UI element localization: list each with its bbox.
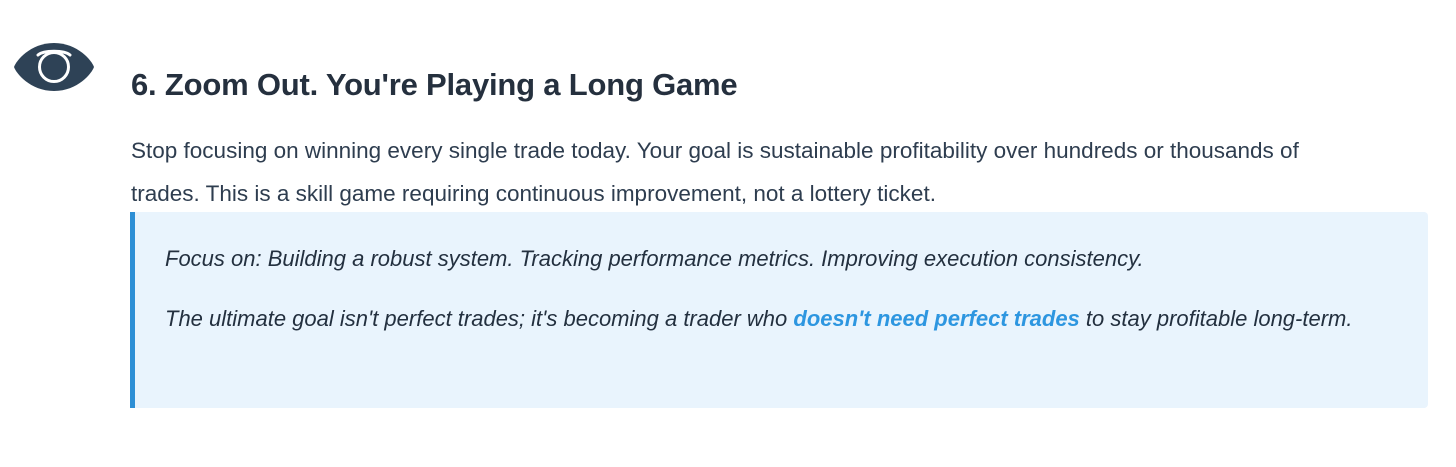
callout-content: Focus on: Building a robust system. Trac… <box>135 212 1428 340</box>
callout-paragraph-one: Focus on: Building a robust system. Trac… <box>165 238 1398 280</box>
callout-text-after: to stay profitable long-term. <box>1080 306 1353 331</box>
eye-icon <box>12 41 96 93</box>
callout-paragraph-two: The ultimate goal isn't perfect trades; … <box>165 298 1398 340</box>
section-body-paragraph: Stop focusing on winning every single tr… <box>131 129 1356 215</box>
callout-emphasis-phrase: doesn't need perfect trades <box>793 306 1079 331</box>
callout-text-before: The ultimate goal isn't perfect trades; … <box>165 306 793 331</box>
article-section: 6. Zoom Out. You're Playing a Long Game … <box>0 0 1456 467</box>
callout-box: Focus on: Building a robust system. Trac… <box>130 212 1428 408</box>
page-title: 6. Zoom Out. You're Playing a Long Game <box>131 64 1431 106</box>
